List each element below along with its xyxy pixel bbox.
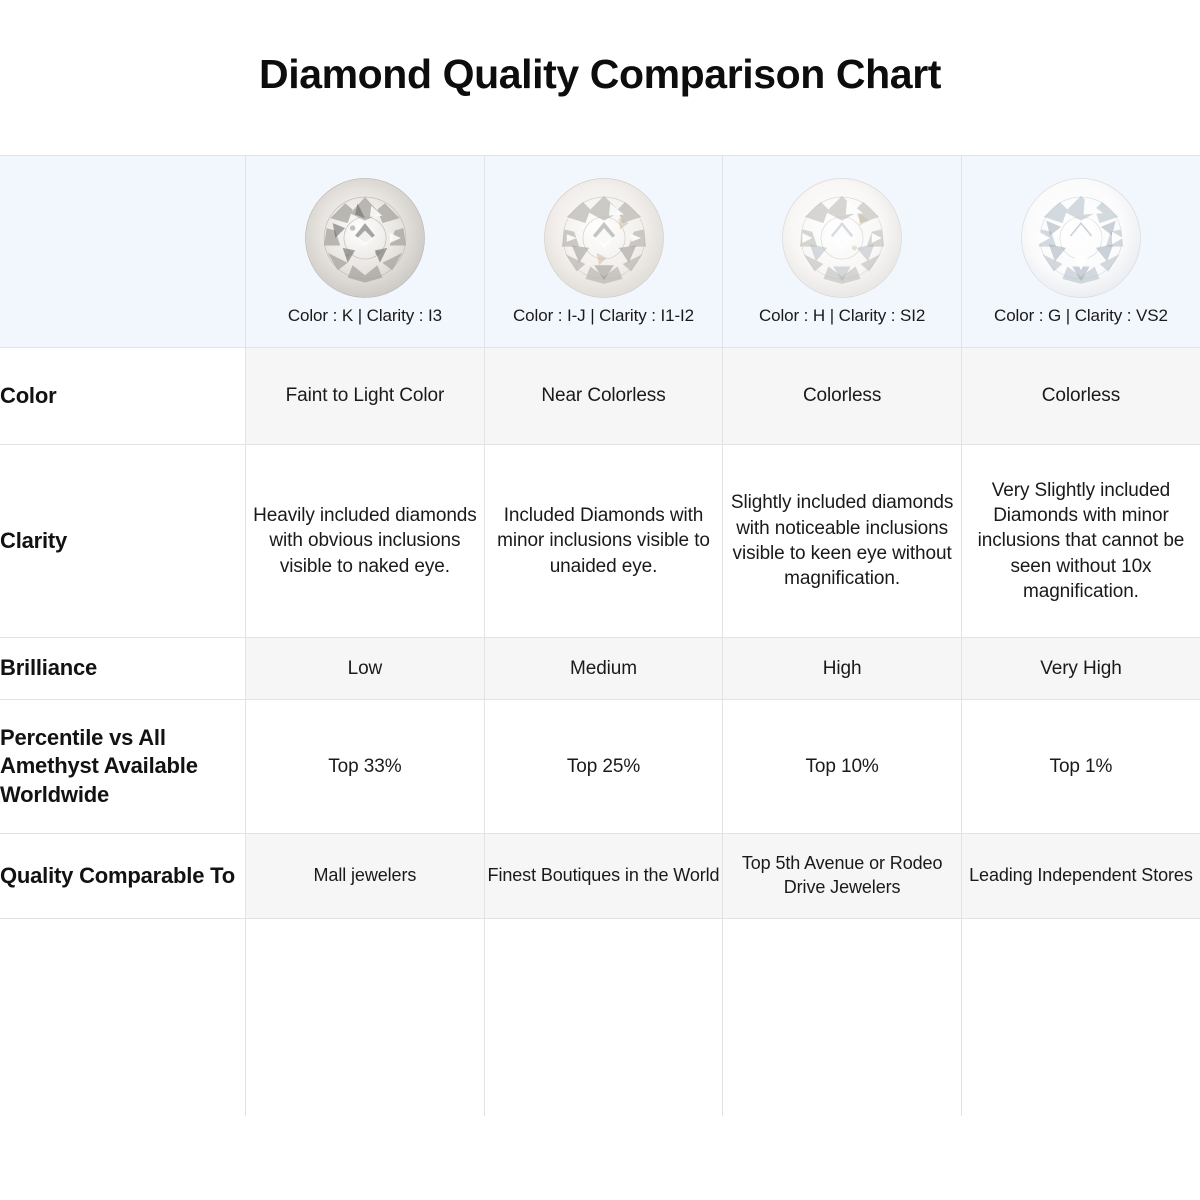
cell-percentile-column-4: Top 1% (961, 700, 1200, 834)
page-title: Diamond Quality Comparison Chart (0, 0, 1200, 97)
cell-quality-column-1: Mall jewelers (246, 834, 485, 919)
cell-empty-label (0, 919, 246, 1116)
cell-clarity-column-4: Very Slightly included Diamonds with min… (961, 445, 1200, 638)
round-brilliant-diamond-icon (1019, 176, 1143, 300)
cell-clarity-column-2: Included Diamonds with minor inclusions … (484, 445, 723, 638)
header-cell-column-4: Color : G | Clarity : VS2 (961, 156, 1200, 348)
table-row-brilliance: Brilliance Low Medium High Very High (0, 638, 1200, 700)
cell-percentile-column-1: Top 33% (246, 700, 485, 834)
cell-clarity-column-3: Slightly included diamonds with noticeab… (723, 445, 962, 638)
header-cell-column-2: Color : I-J | Clarity : I1-I2 (484, 156, 723, 348)
row-label-clarity: Clarity (0, 445, 246, 638)
table-row-clarity: Clarity Heavily included diamonds with o… (0, 445, 1200, 638)
cell-brilliance-column-1: Low (246, 638, 485, 700)
cell-percentile-column-2: Top 25% (484, 700, 723, 834)
diamond-comparison-table: Color : K | Clarity : I3 (0, 155, 1200, 1116)
header-caption-column-4: Color : G | Clarity : VS2 (962, 306, 1200, 326)
cell-clarity-column-1: Heavily included diamonds with obvious i… (246, 445, 485, 638)
cell-quality-column-2: Finest Boutiques in the World (484, 834, 723, 919)
table-row-percentile: Percentile vs All Amethyst Available Wor… (0, 700, 1200, 834)
table-row-color: Color Faint to Light Color Near Colorles… (0, 348, 1200, 445)
row-label-color: Color (0, 348, 246, 445)
cell-color-column-3: Colorless (723, 348, 962, 445)
cell-brilliance-column-3: High (723, 638, 962, 700)
header-caption-column-3: Color : H | Clarity : SI2 (723, 306, 961, 326)
cell-color-column-2: Near Colorless (484, 348, 723, 445)
cell-color-column-4: Colorless (961, 348, 1200, 445)
header-corner-cell (0, 156, 246, 348)
cell-empty-column-4 (961, 919, 1200, 1116)
table-row-quality: Quality Comparable To Mall jewelers Fine… (0, 834, 1200, 919)
header-caption-column-2: Color : I-J | Clarity : I1-I2 (485, 306, 723, 326)
cell-empty-column-3 (723, 919, 962, 1116)
row-label-quality: Quality Comparable To (0, 834, 246, 919)
round-brilliant-diamond-icon (303, 176, 427, 300)
diamond-comparison-page: { "page": { "title": "Diamond Quality Co… (0, 0, 1200, 1200)
cell-quality-column-3: Top 5th Avenue or Rodeo Drive Jewelers (723, 834, 962, 919)
round-brilliant-diamond-icon (780, 176, 904, 300)
row-label-percentile: Percentile vs All Amethyst Available Wor… (0, 700, 246, 834)
cell-empty-column-1 (246, 919, 485, 1116)
cell-color-column-1: Faint to Light Color (246, 348, 485, 445)
round-brilliant-diamond-icon (542, 176, 666, 300)
header-caption-column-1: Color : K | Clarity : I3 (246, 306, 484, 326)
cell-empty-column-2 (484, 919, 723, 1116)
cell-percentile-column-3: Top 10% (723, 700, 962, 834)
row-label-brilliance: Brilliance (0, 638, 246, 700)
cell-quality-column-4: Leading Independent Stores (961, 834, 1200, 919)
cell-brilliance-column-4: Very High (961, 638, 1200, 700)
header-cell-column-3: Color : H | Clarity : SI2 (723, 156, 962, 348)
cell-brilliance-column-2: Medium (484, 638, 723, 700)
header-cell-column-1: Color : K | Clarity : I3 (246, 156, 485, 348)
table-header-row: Color : K | Clarity : I3 (0, 156, 1200, 348)
table-row-empty (0, 919, 1200, 1116)
